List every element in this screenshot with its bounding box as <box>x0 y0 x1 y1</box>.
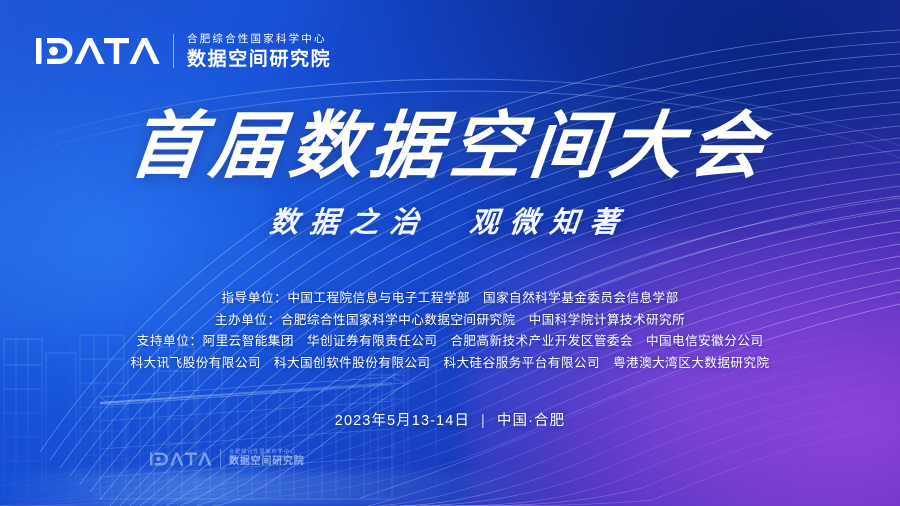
organization-item: 科大硅谷服务平台有限公司 <box>443 356 600 370</box>
watermark-logo-divider <box>220 449 221 468</box>
organization-item: 华创证券有限责任公司 <box>307 334 437 348</box>
conference-poster: 合肥综合性国家科学中心 数据空间研究院 合肥综合性国家科学中心 数据空间研究院 … <box>0 0 900 506</box>
organization-item: 中国科学院计算技术研究所 <box>529 313 686 327</box>
logo-subtitle: 合肥综合性国家科学中心 <box>187 34 331 45</box>
event-date-bar: 2023年5月13-14日|中国·合肥 <box>0 409 900 430</box>
organization-item: 合肥综合性国家科学中心数据空间研究院 <box>281 313 516 327</box>
logo-title: 数据空间研究院 <box>187 50 331 69</box>
watermark-logo-subtitle: 合肥综合性国家科学中心 <box>229 450 305 455</box>
organization-item: 粤港澳大湾区大数据研究院 <box>613 356 770 370</box>
organization-item: 阿里云智能集团 <box>203 334 294 348</box>
watermark-logo: 合肥综合性国家科学中心 数据空间研究院 <box>150 449 305 468</box>
organization-line: 指导单位：中国工程院信息与电子工程学部国家自然科学基金委员会信息学部 <box>0 288 900 310</box>
page-subtitle: 数据之治 观微知著 <box>0 199 900 241</box>
event-date-text: 2023年5月13-14日|中国·合肥 <box>335 409 565 430</box>
idata-logo-icon <box>150 451 212 467</box>
logo-divider <box>173 34 174 68</box>
hero-title-block: 首届数据空间大会 数据之治 观微知著 <box>0 108 900 241</box>
watermark-logo-text: 合肥综合性国家科学中心 数据空间研究院 <box>229 450 305 467</box>
idata-logo-icon <box>36 35 160 67</box>
watermark-logo-title: 数据空间研究院 <box>229 457 305 467</box>
ground-reflection-glow <box>0 472 558 506</box>
organization-line: 主办单位：合肥综合性国家科学中心数据空间研究院中国科学院计算技术研究所 <box>0 310 900 332</box>
logo-text-block: 合肥综合性国家科学中心 数据空间研究院 <box>187 34 331 69</box>
organization-item: 中国工程院信息与电子工程学部 <box>287 291 470 305</box>
organization-line: 支持单位：阿里云智能集团华创证券有限责任公司合肥高新技术产业开发区管委会中国电信… <box>0 331 900 353</box>
organizations-block: 指导单位：中国工程院信息与电子工程学部国家自然科学基金委员会信息学部 主办单位：… <box>0 288 900 374</box>
organization-item: 科大讯飞股份有限公司 <box>130 356 260 370</box>
organization-item: 合肥高新技术产业开发区管委会 <box>450 334 633 348</box>
organization-label: 主办单位： <box>215 313 281 327</box>
date-separator: | <box>481 413 486 429</box>
header-logo[interactable]: 合肥综合性国家科学中心 数据空间研究院 <box>36 34 331 69</box>
vignette-overlay <box>0 0 900 506</box>
organization-item: 科大国创软件股份有限公司 <box>274 356 431 370</box>
event-date: 2023年5月13-14日 <box>335 413 470 429</box>
organization-label: 指导单位： <box>221 291 287 305</box>
page-title: 首届数据空间大会 <box>0 108 900 185</box>
flowing-lines-decoration <box>0 0 900 506</box>
organization-item: 中国电信安徽分公司 <box>646 334 763 348</box>
organization-item: 国家自然科学基金委员会信息学部 <box>483 291 679 305</box>
event-location: 中国·合肥 <box>497 413 565 429</box>
organization-line: 科大讯飞股份有限公司科大国创软件股份有限公司科大硅谷服务平台有限公司粤港澳大湾区… <box>0 353 900 375</box>
organization-label: 支持单位： <box>137 334 203 348</box>
